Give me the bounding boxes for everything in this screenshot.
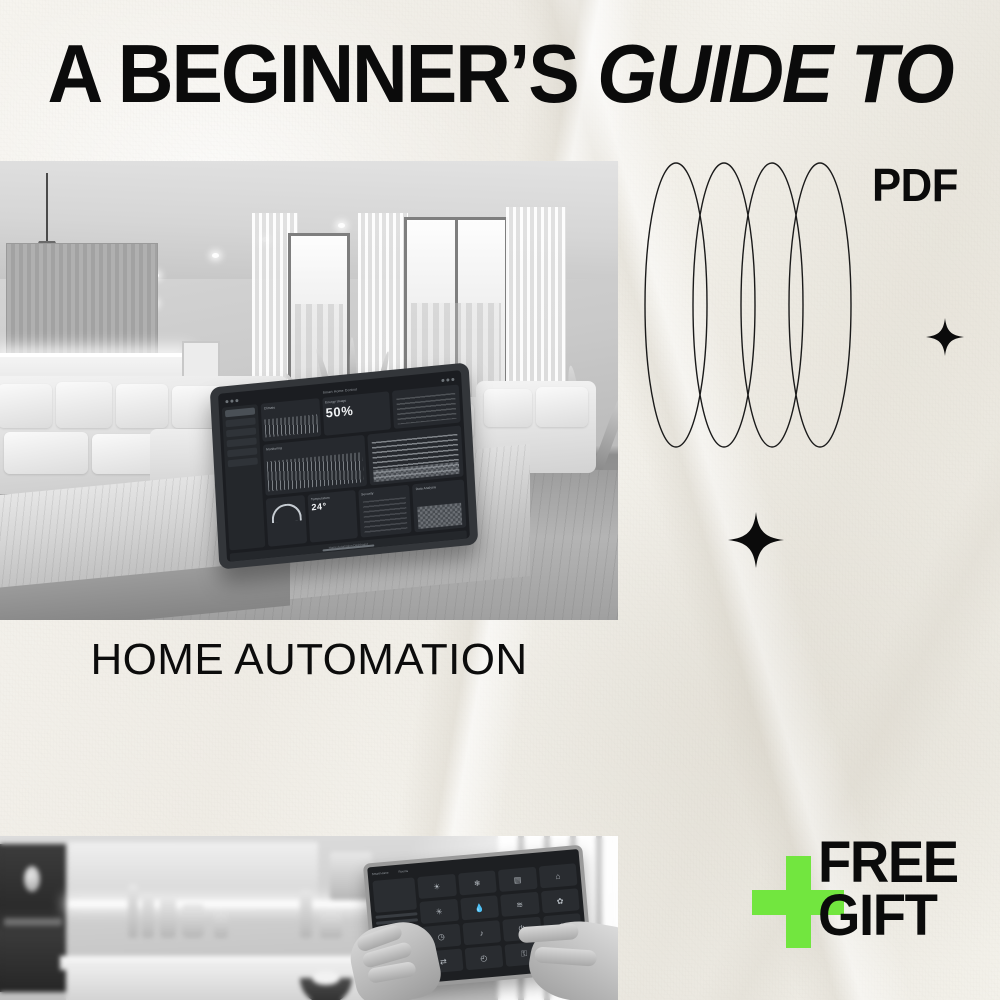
card-temperature[interactable]: Temperature 24° <box>308 490 358 542</box>
kitchen-utensil <box>128 884 138 938</box>
tablet-tab-rooms[interactable]: Rooms <box>398 868 408 873</box>
sidebar-item-energy[interactable] <box>227 437 257 447</box>
dashboard-actions-icon[interactable] <box>441 378 454 382</box>
tablet-tab-smart-home[interactable]: Smart Home <box>372 870 389 875</box>
free-gift-line-2: GIFT <box>818 889 958 942</box>
headline-plain-part: A BEGINNER’S <box>48 27 598 120</box>
card-analysis[interactable]: Data Analysis <box>412 480 466 533</box>
built-in-oven <box>0 844 66 992</box>
kitchen-utensil <box>142 894 154 938</box>
free-gift-text: FREE GIFT <box>818 836 958 943</box>
card-gauge[interactable] <box>266 495 308 546</box>
wood-wall-panel <box>6 243 158 363</box>
card-analysis-label: Data Analysis <box>416 483 462 491</box>
kitchen-scene: Smart Home Rooms ☀ ❄ ▤ <box>0 836 618 1000</box>
tile-security[interactable]: ⌂ <box>538 863 577 888</box>
oven-knob-icon <box>24 866 40 892</box>
security-graphic <box>363 497 408 533</box>
free-gift-line-1: FREE <box>818 836 958 889</box>
dashboard-main: Climate Energy Usage 50% <box>261 384 467 546</box>
analysis-heatmap <box>418 503 463 529</box>
format-badge-pdf: PDF <box>872 158 958 212</box>
kitchen-bottle <box>300 890 312 938</box>
tile-climate[interactable]: ❄ <box>458 870 497 895</box>
temperature-value: 24° <box>311 500 353 513</box>
kitchen-kettle <box>182 904 204 938</box>
tile-sound[interactable]: ♪ <box>462 920 501 945</box>
tile-air[interactable]: ≋ <box>500 892 539 917</box>
sparkle-icon <box>728 512 784 568</box>
sparkline-chart <box>264 414 317 437</box>
floor-plan-graphic <box>396 393 456 424</box>
monitoring-chart <box>267 452 365 491</box>
bottom-image-kitchen: Smart Home Rooms ☀ ❄ ▤ <box>0 836 618 1000</box>
window-dots-icon <box>225 399 238 403</box>
overlapping-ellipses-decoration <box>643 161 853 449</box>
page-subtitle: HOME AUTOMATION <box>0 635 618 685</box>
card-data-analysis[interactable] <box>368 425 464 486</box>
tile-ambient[interactable]: ✳ <box>419 899 458 924</box>
tile-fan[interactable]: ✿ <box>540 888 579 913</box>
tile-clock[interactable]: ◴ <box>464 945 503 970</box>
tile-blinds[interactable]: ▤ <box>498 867 537 892</box>
hero-image-living-room: Smart Home Control <box>0 161 618 620</box>
kitchen-vase <box>214 908 228 938</box>
kitchen-canister <box>320 908 342 938</box>
sidebar-item-settings[interactable] <box>228 457 258 467</box>
card-monitoring[interactable]: Monitoring <box>263 435 368 497</box>
backsplash-led <box>68 900 398 908</box>
gauge-icon <box>271 503 302 524</box>
tablet-device[interactable]: Smart Home Control <box>210 362 479 569</box>
tile-lighting[interactable]: ☀ <box>417 874 456 899</box>
card-energy-usage[interactable]: Energy Usage 50% <box>322 391 391 435</box>
dashboard-body: Climate Energy Usage 50% <box>222 384 467 550</box>
downlight-icon <box>338 223 345 228</box>
upper-cabinets <box>68 842 318 900</box>
sidebar-room-card[interactable] <box>372 877 417 913</box>
tile-humidity[interactable]: 💧 <box>460 895 499 920</box>
card-security-label: Security <box>361 488 407 496</box>
sparkle-icon <box>926 318 964 356</box>
living-room-scene: Smart Home Control <box>0 161 618 620</box>
card-climate[interactable]: Climate <box>261 398 321 441</box>
card-climate-label: Climate <box>264 401 316 410</box>
card-security[interactable]: Security <box>358 485 412 538</box>
card-floor-plan[interactable] <box>392 384 461 428</box>
free-gift-badge: FREE GIFT <box>748 836 1000 966</box>
dashboard-sidebar[interactable] <box>222 404 266 550</box>
dashboard-title: Smart Home Control <box>323 387 358 394</box>
sidebar-item-devices[interactable] <box>226 427 256 437</box>
kitchen-jar <box>160 898 176 938</box>
poster-canvas: A BEGINNER’S GUIDE TO <box>0 0 1000 1000</box>
card-monitoring-label: Monitoring <box>266 438 362 451</box>
sidebar-item-scenes[interactable] <box>227 447 257 457</box>
headline-italic-part: GUIDE TO <box>597 27 952 120</box>
oven-handle <box>4 918 62 926</box>
pendant-lamp-cord <box>46 173 48 243</box>
sidebar-item-overview[interactable] <box>225 407 255 417</box>
downlight-icon <box>212 253 219 258</box>
sidebar-item-rooms[interactable] <box>225 417 255 427</box>
page-title: A BEGINNER’S GUIDE TO <box>35 32 965 115</box>
tablet-screen[interactable]: Smart Home Control <box>218 370 470 562</box>
